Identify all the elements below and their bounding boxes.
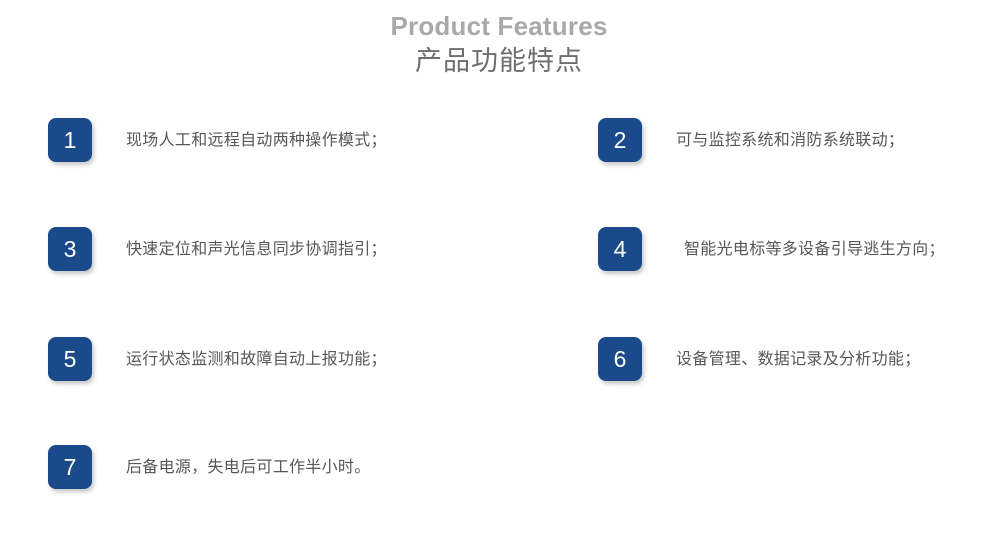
feature-number-badge: 3 [48,227,92,271]
feature-item-6: 6 设备管理、数据记录及分析功能； [598,337,921,381]
feature-item-5: 5 运行状态监测和故障自动上报功能； [48,337,387,381]
feature-number-badge: 1 [48,118,92,162]
feature-row: 3 快速定位和声光信息同步协调指引； 4 智能光电标等多设备引导逃生方向； [0,227,998,271]
page-title-chinese: 产品功能特点 [0,44,998,80]
feature-number-badge: 6 [598,337,642,381]
feature-row: 7 后备电源，失电后可工作半小时。 [0,445,998,489]
page-title-english: Product Features [0,10,998,42]
feature-text: 快速定位和声光信息同步协调指引； [126,237,387,261]
feature-number-badge: 4 [598,227,642,271]
feature-item-3: 3 快速定位和声光信息同步协调指引； [48,227,387,271]
feature-text: 后备电源，失电后可工作半小时。 [126,455,371,479]
feature-text: 运行状态监测和故障自动上报功能； [126,347,387,371]
feature-text: 智能光电标等多设备引导逃生方向； [684,237,945,261]
feature-item-4: 4 智能光电标等多设备引导逃生方向； [598,227,945,271]
feature-item-7: 7 后备电源，失电后可工作半小时。 [48,445,371,489]
feature-text: 可与监控系统和消防系统联动； [676,128,904,152]
product-features-page: Product Features 产品功能特点 1 现场人工和远程自动两种操作模… [0,0,998,558]
feature-number-badge: 7 [48,445,92,489]
feature-number-badge: 2 [598,118,642,162]
feature-text: 现场人工和远程自动两种操作模式； [126,128,387,152]
feature-item-1: 1 现场人工和远程自动两种操作模式； [48,118,387,162]
feature-number-badge: 5 [48,337,92,381]
feature-row: 1 现场人工和远程自动两种操作模式； 2 可与监控系统和消防系统联动； [0,118,998,162]
feature-item-2: 2 可与监控系统和消防系统联动； [598,118,904,162]
page-header: Product Features 产品功能特点 [0,0,998,80]
feature-text: 设备管理、数据记录及分析功能； [676,347,921,371]
feature-row: 5 运行状态监测和故障自动上报功能； 6 设备管理、数据记录及分析功能； [0,337,998,381]
